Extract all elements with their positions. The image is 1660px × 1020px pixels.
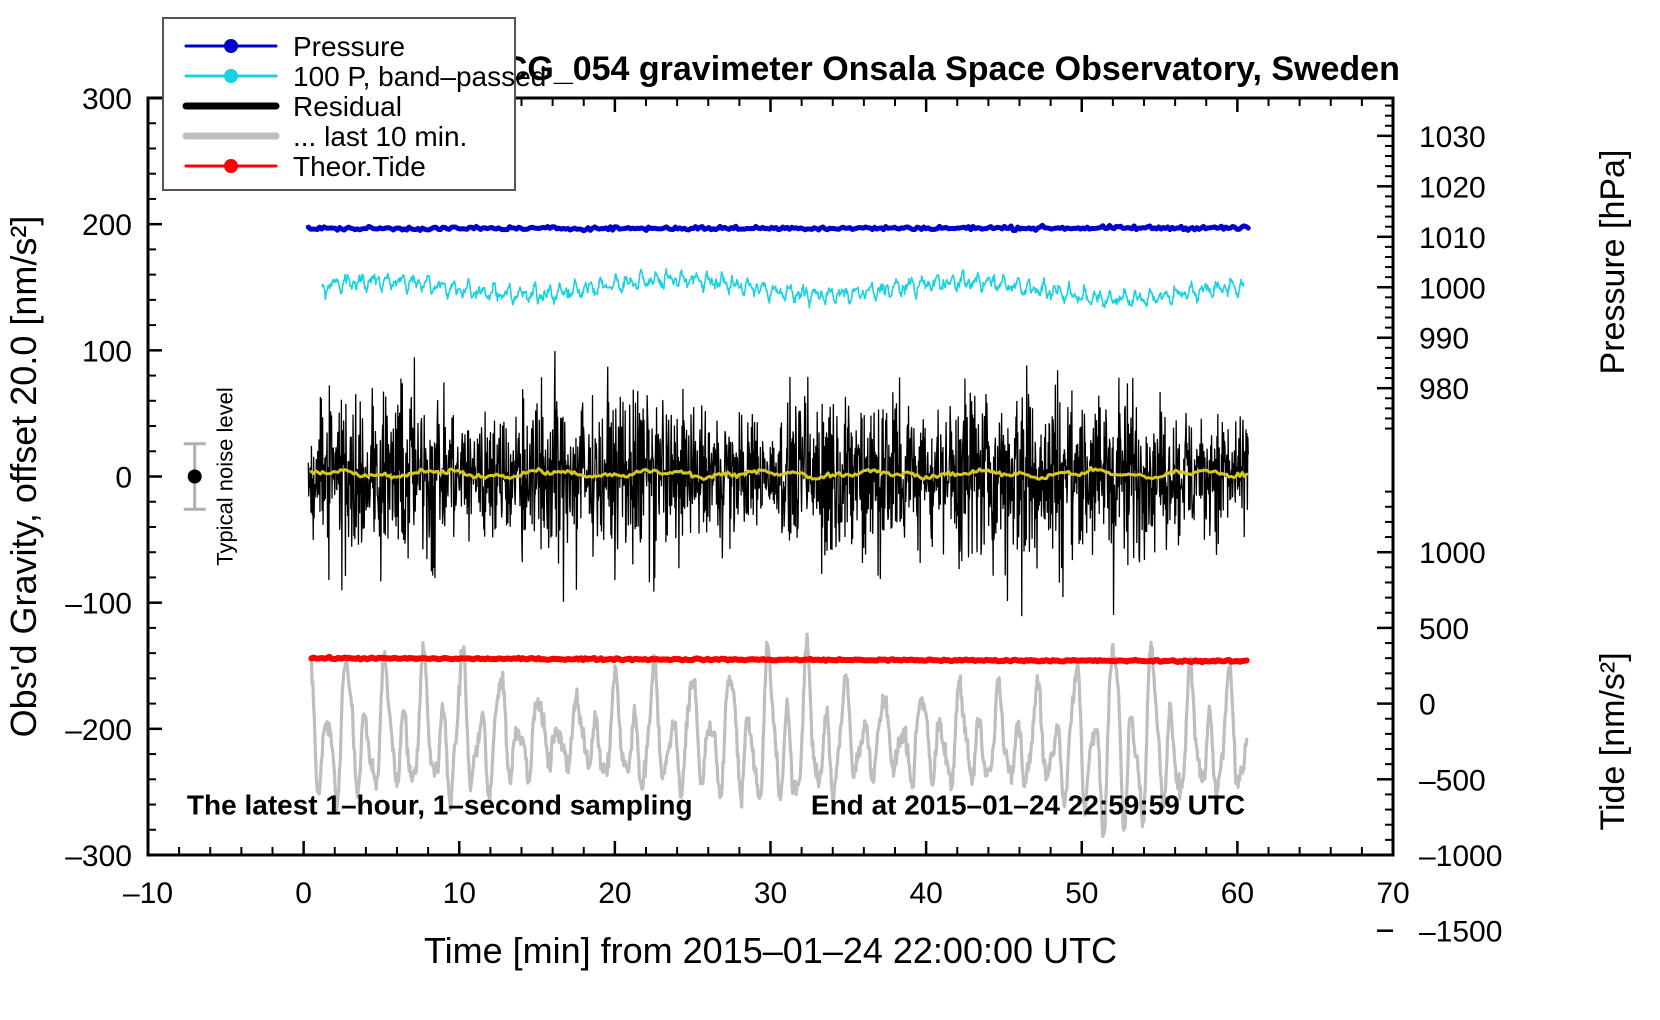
- x-tick-label: 60: [1221, 877, 1254, 910]
- pressure-tick-label: 1010: [1419, 222, 1486, 255]
- tide-tick-label: –500: [1419, 764, 1486, 797]
- legend-label: Pressure: [293, 31, 405, 62]
- legend-label: ... last 10 min.: [293, 121, 467, 152]
- tide-tick-label: –1000: [1419, 840, 1502, 873]
- sampling-note: The latest 1–hour, 1–second sampling: [187, 790, 693, 821]
- x-tick-label: 50: [1065, 877, 1098, 910]
- pressure-tick-label: 1020: [1419, 171, 1486, 204]
- legend[interactable]: Pressure100 P, band–passedResidual... la…: [163, 18, 546, 190]
- pressure-tick-label: 980: [1419, 373, 1469, 406]
- y-tick-label: 300: [82, 83, 132, 116]
- tide-tick-label: 1000: [1419, 537, 1486, 570]
- y-tick-label: –200: [65, 714, 132, 747]
- y-tick-label: 100: [82, 335, 132, 368]
- series-trace: [322, 269, 1243, 308]
- x-tick-label: 30: [754, 877, 787, 910]
- gravimeter-chart-page: –10010203040506070Time [min] from 2015–0…: [0, 0, 1660, 1020]
- legend-label: Theor.Tide: [293, 151, 426, 182]
- x-tick-label: 20: [598, 877, 631, 910]
- series-trace: [308, 351, 1248, 615]
- y-axis-title-tide: Tide [nm/s²]: [1594, 652, 1632, 830]
- x-tick-label: –10: [123, 877, 173, 910]
- x-axis-title: Time [min] from 2015–01–24 22:00:00 UTC: [424, 930, 1117, 971]
- pressure-tick-label: 990: [1419, 323, 1469, 356]
- legend-marker: [224, 69, 238, 83]
- y-tick-label: –100: [65, 588, 132, 621]
- gravimeter-plot: –10010203040506070Time [min] from 2015–0…: [0, 0, 1660, 1020]
- pressure-tick-label: 1000: [1419, 272, 1486, 305]
- typical-noise-marker: [184, 444, 206, 510]
- legend-marker: [224, 39, 238, 53]
- y-tick-label: 0: [115, 462, 132, 495]
- data-traces: [308, 225, 1248, 836]
- legend-marker: [224, 159, 238, 173]
- y-tick-label: –300: [65, 840, 132, 873]
- y-axis-right: 103010201010100099098010005000–500–1000–…: [1377, 106, 1502, 949]
- series-trace: [311, 657, 1246, 662]
- end-time-note: End at 2015–01–24 22:59:59 UTC: [811, 790, 1245, 821]
- tide-tick-label: –1500: [1419, 916, 1502, 949]
- y-axis-title-pressure: Pressure [hPa]: [1594, 150, 1632, 375]
- chart-title: SCG_054 gravimeter Onsala Space Observat…: [480, 50, 1400, 88]
- x-tick-label: 40: [909, 877, 942, 910]
- x-tick-label: 0: [295, 877, 312, 910]
- noise-marker-label: Typical noise level: [213, 387, 238, 566]
- y-axis-title-left: Obs'd Gravity, offset 20.0 [nm/s²]: [3, 216, 44, 738]
- y-tick-label: 200: [82, 209, 132, 242]
- tide-tick-label: 0: [1419, 689, 1436, 722]
- legend-label: 100 P, band–passed: [293, 61, 546, 92]
- series-trace: [308, 225, 1248, 230]
- x-tick-label: 10: [443, 877, 476, 910]
- tide-tick-label: 500: [1419, 613, 1469, 646]
- pressure-tick-label: 1030: [1419, 121, 1486, 154]
- x-tick-label: 70: [1376, 877, 1409, 910]
- legend-label: Residual: [293, 91, 402, 122]
